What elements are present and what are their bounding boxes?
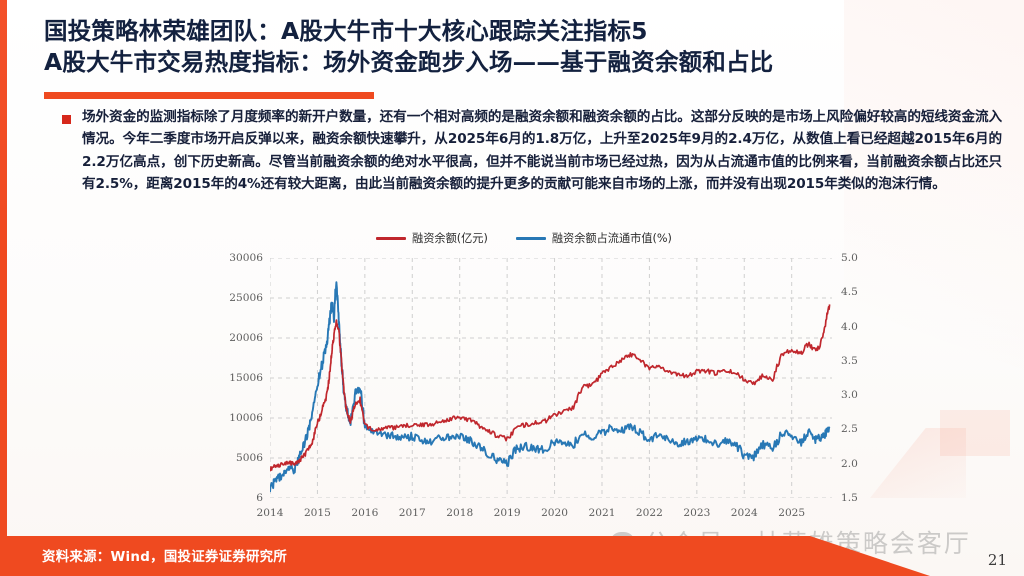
y-right-tick-6: 4.5 (841, 286, 858, 298)
x-tick-0: 2014 (257, 507, 284, 519)
y-right-tick-1: 2.0 (841, 458, 858, 470)
x-tick-8: 2022 (636, 507, 663, 519)
y-left-tick-3: 15006 (229, 372, 263, 384)
chart-plot-area: 650061000615006200062500630006 1.52.02.5… (270, 258, 832, 498)
legend-label-series-1: 融资余额占流通市值(%) (552, 230, 672, 246)
x-tick-7: 2021 (588, 507, 615, 519)
chart-legend: 融资余额(亿元) 融资余额占流通市值(%) (376, 230, 672, 246)
footer-source-text: 资料来源：Wind，国投证券证券研究所 (42, 545, 287, 565)
title-line-2: A股大牛市交易热度指标：场外资金跑步入场——基于融资余额和占比 (44, 47, 994, 78)
y-left-tick-2: 10006 (229, 412, 263, 424)
y-left-tick-6: 30006 (229, 252, 263, 264)
y-right-tick-5: 4.0 (841, 321, 858, 333)
title-underline-rule (44, 92, 374, 99)
legend-item-1: 融资余额占流通市值(%) (516, 230, 672, 246)
x-tick-4: 2018 (446, 507, 473, 519)
y-right-tick-0: 1.5 (841, 492, 858, 504)
x-tick-6: 2020 (541, 507, 568, 519)
x-tick-3: 2017 (399, 507, 426, 519)
series-line-1 (270, 282, 830, 492)
legend-swatch-series-1 (516, 237, 546, 240)
x-tick-5: 2019 (494, 507, 521, 519)
x-tick-9: 2023 (683, 507, 710, 519)
body-paragraph-text: 场外资金的监测指标除了月度频率的新开户数量，还有一个相对高频的是融资余额和融资余… (82, 106, 1002, 195)
legend-label-series-0: 融资余额(亿元) (412, 230, 488, 246)
y-right-tick-3: 3.0 (841, 389, 858, 401)
chart-svg (270, 258, 832, 498)
x-tick-10: 2024 (731, 507, 758, 519)
corner-block-decoration (940, 410, 1010, 456)
left-accent-stripe (0, 0, 7, 576)
y-right-tick-7: 5.0 (841, 252, 858, 264)
x-tick-1: 2015 (304, 507, 331, 519)
title-line-1: 国投策略林荣雄团队：A股大牛市十大核心跟踪关注指标5 (44, 16, 994, 47)
y-right-tick-2: 2.5 (841, 423, 858, 435)
legend-swatch-series-0 (376, 237, 406, 240)
x-tick-11: 2025 (778, 507, 805, 519)
y-right-tick-4: 3.5 (841, 355, 858, 367)
y-left-tick-4: 20006 (229, 332, 263, 344)
y-left-tick-1: 5006 (236, 452, 263, 464)
x-tick-2: 2016 (351, 507, 378, 519)
y-left-tick-5: 25006 (229, 292, 263, 304)
page-number: 21 (988, 551, 1007, 569)
y-left-tick-0: 6 (256, 492, 263, 504)
legend-item-0: 融资余额(亿元) (376, 230, 488, 246)
square-bullet-icon (62, 115, 71, 124)
slide-root: 国投策略林荣雄团队：A股大牛市十大核心跟踪关注指标5 A股大牛市交易热度指标：场… (0, 0, 1024, 576)
chart-container: 融资余额(亿元) 融资余额占流通市值(%) 650061000615006200… (208, 226, 868, 534)
page-title: 国投策略林荣雄团队：A股大牛市十大核心跟踪关注指标5 A股大牛市交易热度指标：场… (44, 16, 994, 78)
body-paragraph-block: 场外资金的监测指标除了月度频率的新开户数量，还有一个相对高频的是融资余额和融资余… (62, 106, 1002, 195)
